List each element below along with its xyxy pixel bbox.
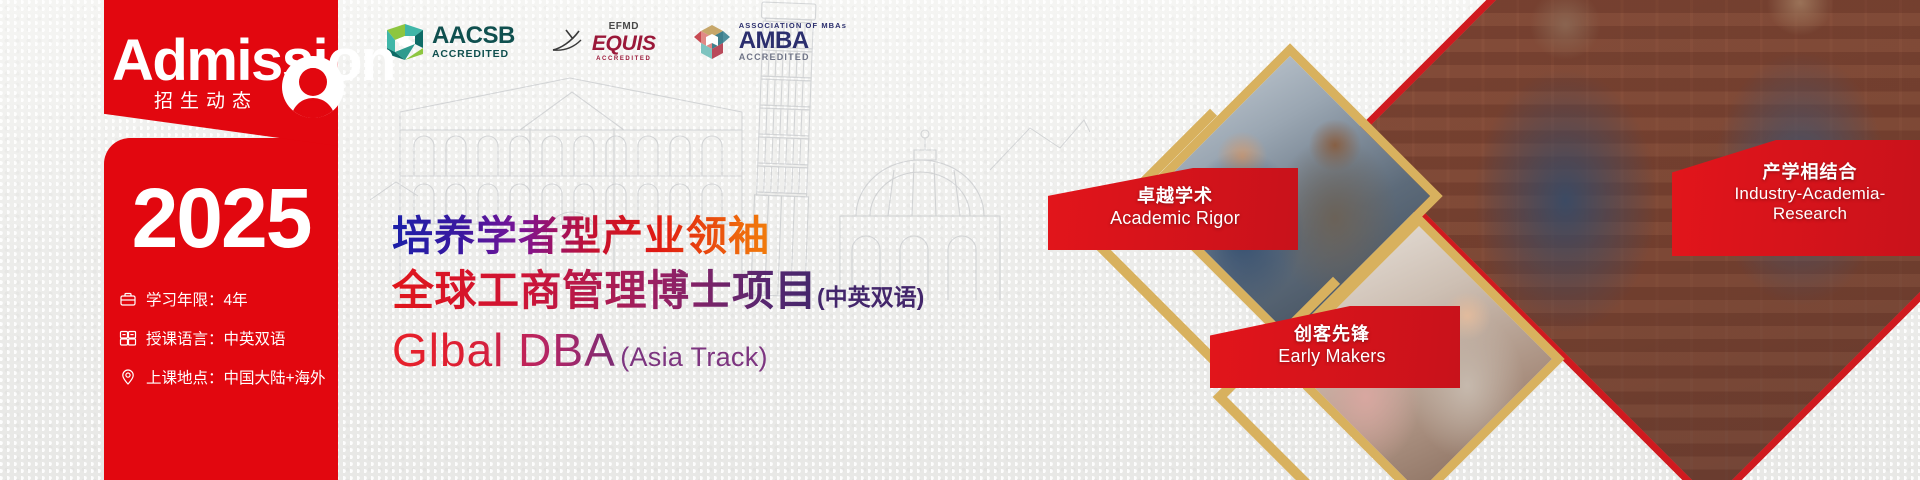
language-book-icon	[118, 329, 137, 348]
program-facts-list: 学习年限：4年 授课语言：中英双语	[118, 288, 340, 405]
feature-badge-industry-en: Industry-Academia-Research	[1710, 184, 1910, 224]
amba-status: ACCREDITED	[739, 53, 847, 62]
feature-badge-academic-rigor: 卓越学术 Academic Rigor	[1090, 186, 1260, 229]
fact-duration: 学习年限：4年	[118, 288, 340, 310]
fact-language: 授课语言：中英双语	[118, 327, 340, 349]
feature-badge-early-makers-cn: 创客先锋	[1252, 324, 1412, 345]
headline-program-cn: 全球工商管理博士项目(中英双语)	[392, 266, 924, 316]
program-name-cn: 全球工商管理博士项目	[392, 267, 817, 314]
amba-diamond-icon	[692, 24, 732, 60]
feature-badge-industry-cn: 产学相结合	[1710, 162, 1910, 183]
admission-banner: AACSB ACCREDITED EFMD EQUIS ACCREDITED	[0, 0, 1920, 480]
admission-logo-word: Admission	[112, 32, 395, 90]
admission-logo: Admission 招生动态	[112, 30, 344, 116]
headline-program-en: Glbal DBA (Asia Track)	[392, 325, 924, 376]
fact-location-text: 上课地点：中国大陆+海外	[146, 366, 326, 388]
program-name-en: Glbal DBA	[392, 324, 616, 376]
person-in-circle-icon	[282, 56, 344, 118]
aacsb-name: AACSB	[432, 24, 515, 48]
feature-badge-early-makers: 创客先锋 Early Makers	[1252, 324, 1412, 367]
feature-badge-industry: 产学相结合 Industry-Academia-Research	[1710, 162, 1910, 224]
fact-duration-text: 学习年限：4年	[146, 288, 248, 310]
accreditation-logo-row: AACSB ACCREDITED EFMD EQUIS ACCREDITED	[385, 22, 847, 62]
graduation-box-icon	[118, 290, 137, 309]
equis-name: EQUIS	[592, 33, 656, 54]
location-pin-icon	[118, 368, 137, 387]
accreditation-aacsb: AACSB ACCREDITED	[385, 22, 515, 62]
headline-block: 培养学者型产业领袖 全球工商管理博士项目(中英双语) Glbal DBA (As…	[392, 212, 924, 375]
feature-badge-academic-rigor-cn: 卓越学术	[1090, 186, 1260, 207]
equis-status: ACCREDITED	[592, 56, 656, 62]
admission-logo-chinese: 招生动态	[154, 86, 258, 113]
fact-language-text: 授课语言：中英双语	[146, 327, 286, 349]
amba-name: AMBA	[739, 29, 847, 53]
feature-badge-early-makers-en: Early Makers	[1252, 346, 1412, 367]
feature-badge-academic-rigor-en: Academic Rigor	[1090, 208, 1260, 229]
accreditation-equis: EFMD EQUIS ACCREDITED	[551, 22, 656, 62]
efmd-label: EFMD	[592, 22, 656, 32]
program-language-note: (中英双语)	[817, 284, 924, 310]
headline-tagline: 培养学者型产业领袖	[392, 212, 924, 260]
aacsb-status: ACCREDITED	[432, 49, 515, 60]
efmd-swoosh-icon	[551, 28, 585, 56]
accreditation-amba: ASSOCIATION OF MBAs AMBA ACCREDITED	[692, 22, 847, 62]
admission-year: 2025	[104, 176, 338, 260]
program-track-note: (Asia Track)	[620, 342, 768, 372]
fact-location: 上课地点：中国大陆+海外	[118, 366, 340, 388]
